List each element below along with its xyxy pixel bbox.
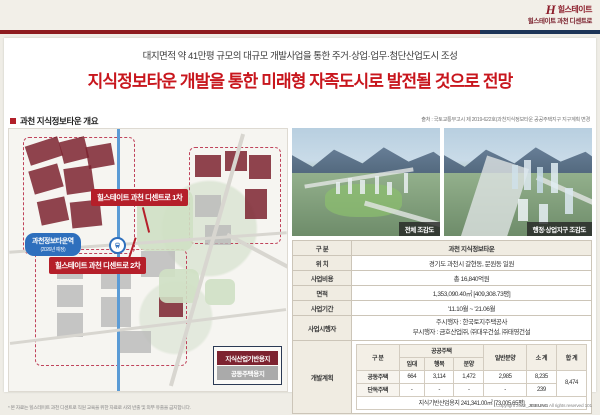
photo-building <box>404 173 408 193</box>
plan-cell: 664 <box>399 370 424 383</box>
row-label: 사업시행자 <box>293 316 352 341</box>
map-parcel <box>195 155 221 177</box>
plan-row-label: 단독주택 <box>357 383 400 396</box>
photo-commercial-district[interactable]: 행정·상업지구 조감도 <box>444 128 592 236</box>
table-row: 사업기간 '11.10월 ~ '21.06월 <box>293 301 592 316</box>
slide-title: 지식정보타운 개발을 통한 미래형 자족도시로 발전될 것으로 전망 <box>4 67 596 92</box>
plan-total-cell: 8,474 <box>556 370 586 396</box>
row-label: 사업기간 <box>293 301 352 316</box>
table-row: 사업비용 총 16,840억원 <box>293 271 592 286</box>
brand-logo: H 힐스테이트 힐스테이트 과천 디센트로 <box>528 3 592 26</box>
plan-cell: 239 <box>526 383 556 396</box>
photo-building <box>360 180 365 194</box>
plan-col-general-sale: 일반분양 <box>484 344 527 370</box>
station-name: 과천정보타운역 <box>32 236 74 246</box>
plan-col-label: 구 분 <box>357 344 400 370</box>
page-header: H 힐스테이트 힐스테이트 과천 디센트로 <box>0 0 600 30</box>
photo-building <box>537 167 543 193</box>
plan-col-happy: 행복 <box>424 357 453 370</box>
map-parcel-housing <box>57 285 83 307</box>
photo-building <box>375 176 379 194</box>
photo-building <box>524 160 531 190</box>
row-value: '11.10월 ~ '21.06월 <box>352 301 592 316</box>
footer-note: * 본 자료는 힐스테이트 과천 디센트로 직원 교육을 위한 자료로 사외 반… <box>8 404 191 411</box>
station-note: (2026년 예정) <box>32 246 74 253</box>
row-label: 사업비용 <box>293 271 352 286</box>
photo-building <box>387 182 392 195</box>
overview-table: 구 분 과천 지식정보타운 위 치 경기도 과천시 갈현동, 문원동 일원 사업… <box>292 240 592 414</box>
map-parcel <box>63 165 94 195</box>
header-divider-accent <box>480 30 600 34</box>
map-parcel <box>249 155 271 179</box>
map-legend: 지식산업기반용지 공동주택용지 <box>213 346 282 385</box>
photo-building <box>518 199 528 221</box>
plan-col-total: 합 계 <box>556 344 586 370</box>
plan-col-rental: 임대 <box>399 357 424 370</box>
development-plan-table: 구 분 공공주택 일반분양 소 계 합 계 임대 행복 분양 공동주택 664 … <box>356 344 587 410</box>
rendering-photos: 전체 조감도 행정·상업지구 조감도 <box>292 128 592 236</box>
plan-header-row: 구 분 공공주택 일반분양 소 계 합 계 <box>357 344 587 357</box>
photo-caption: 행정·상업지구 조감도 <box>527 222 592 236</box>
map-callout-phase1[interactable]: 힐스테이트 과천 디센트로 1차 <box>91 189 188 206</box>
table-row: 면적 1,353,090.40㎡ [409,308.73평] <box>293 286 592 301</box>
row-value: 과천 지식정보타운 <box>352 241 592 256</box>
table-row: 위 치 경기도 과천시 갈현동, 문원동 일원 <box>293 256 592 271</box>
subway-icon <box>109 237 126 254</box>
plan-cell: - <box>399 383 424 396</box>
plan-row-detached: 단독주택 - - - - 239 <box>357 383 587 396</box>
row-label: 면적 <box>293 286 352 301</box>
map-parcel <box>245 189 267 219</box>
map-green-space <box>205 279 235 305</box>
plan-col-subtotal: 소 계 <box>526 344 556 370</box>
copyright-post: All rights reserved 101 <box>548 404 592 409</box>
page-footer: * 본 자료는 힐스테이트 과천 디센트로 직원 교육을 위한 자료로 사외 반… <box>0 404 600 411</box>
row-value: 주시행자 : 한국토지주택공사 부시행자 : 금호산업㈜, ㈜대우건설, ㈜태영… <box>352 316 592 341</box>
title-block: 대지면적 약 41만평 규모의 대규모 개발사업을 통한 주거·상업·업무·첨단… <box>4 38 596 92</box>
table-row-plan: 개발계획 구 분 공공주택 일반분양 소 계 합 계 임대 행복 분양 공동주택… <box>293 340 592 413</box>
legend-item-housing: 공동주택용지 <box>217 366 278 380</box>
hillstate-h-icon: H <box>546 3 555 16</box>
plan-col-sale: 분양 <box>454 357 484 370</box>
map-callout-phase2[interactable]: 힐스테이트 과천 디센트로 2차 <box>49 257 146 274</box>
section-heading: 과천 지식정보타운 개요 <box>10 115 98 127</box>
plan-cell: - <box>484 383 527 396</box>
photo-overall[interactable]: 전체 조감도 <box>292 128 440 236</box>
map-station-label[interactable]: 과천정보타운역 (2026년 예정) <box>25 233 81 256</box>
plan-cell: - <box>454 383 484 396</box>
photo-building <box>539 204 548 224</box>
copyright-pre: Copyright 2022_ <box>496 404 528 409</box>
brand-name: 힐스테이트 <box>558 6 592 14</box>
square-bullet-icon <box>10 118 16 124</box>
photo-caption: 전체 조감도 <box>399 222 440 236</box>
map-parcel-housing <box>117 331 151 353</box>
row-label-plan: 개발계획 <box>293 340 352 413</box>
legend-item-industry: 지식산업기반용지 <box>217 351 278 365</box>
footer-copyright: Copyright 2022_JISEUNG All rights reserv… <box>496 404 592 411</box>
slide-subtitle: 대지면적 약 41만평 규모의 대규모 개발사업을 통한 주거·상업·업무·첨단… <box>4 48 596 62</box>
plan-cell: 2,985 <box>484 370 527 383</box>
plan-row-label: 공동주택 <box>357 370 400 383</box>
row-value: 경기도 과천시 갈현동, 문원동 일원 <box>352 256 592 271</box>
photo-building <box>336 182 340 194</box>
row-label: 위 치 <box>293 256 352 271</box>
copyright-brand: JISEUNG <box>528 404 548 409</box>
row-value: 1,353,090.40㎡ [409,308.73평] <box>352 286 592 301</box>
photo-building <box>551 163 558 193</box>
plan-cell: 8,235 <box>526 370 556 383</box>
table-row: 구 분 과천 지식정보타운 <box>293 241 592 256</box>
photo-building <box>348 178 352 194</box>
plan-row-apartment: 공동주택 664 3,114 1,472 2,985 8,235 8,474 <box>357 370 587 383</box>
map-parcel-housing <box>101 297 131 327</box>
photo-building <box>512 165 518 189</box>
table-row: 사업시행자 주시행자 : 한국토지주택공사 부시행자 : 금호산업㈜, ㈜대우건… <box>293 316 592 341</box>
brand-subtitle: 힐스테이트 과천 디센트로 <box>528 19 592 26</box>
plan-group-public-housing: 공공주택 <box>399 344 484 357</box>
row-label: 구 분 <box>293 241 352 256</box>
plan-cell: - <box>424 383 453 396</box>
section-label: 과천 지식정보타운 개요 <box>20 115 98 127</box>
plan-cell: 1,472 <box>454 370 484 383</box>
plan-cell: 3,114 <box>424 370 453 383</box>
photo-building <box>565 188 573 214</box>
source-note: 출처 : 국토교통부고시 제 2019-622호(과천지식정보타운 공공주택지구… <box>421 116 590 123</box>
row-value: 총 16,840억원 <box>352 271 592 286</box>
district-map[interactable]: 힐스테이트 과천 디센트로 1차 힐스테이트 과천 디센트로 2차 과천정보타운… <box>8 128 288 392</box>
